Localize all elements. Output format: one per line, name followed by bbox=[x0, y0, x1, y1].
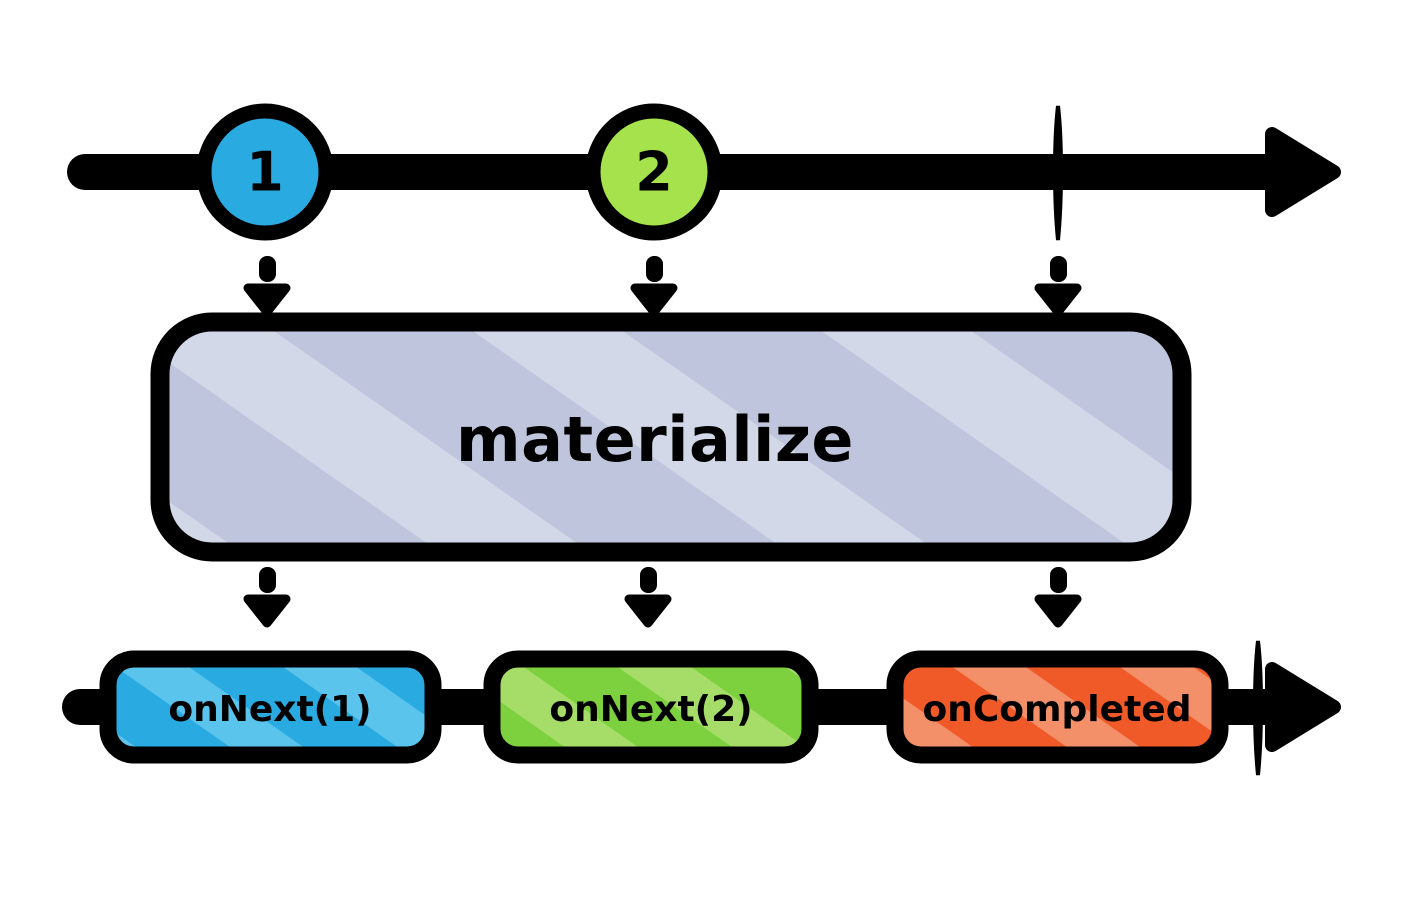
notification-oncompleted[interactable]: onCompleted bbox=[895, 659, 1220, 755]
output-complete-bar bbox=[1255, 641, 1261, 775]
source-observable-timeline: 1 2 bbox=[85, 106, 1334, 240]
notification-onnext-2-label: onNext(2) bbox=[549, 689, 752, 730]
notification-onnext-2[interactable]: onNext(2) bbox=[492, 659, 810, 755]
connector-down-icon-1 bbox=[248, 256, 286, 312]
notification-onnext-1-label: onNext(1) bbox=[168, 689, 371, 730]
notification-onnext-1[interactable]: onNext(1) bbox=[108, 659, 433, 755]
materialize-operator-label: materialize bbox=[456, 403, 854, 476]
notification-oncompleted-label: onCompleted bbox=[923, 689, 1192, 730]
output-timeline-arrowhead bbox=[1272, 669, 1334, 745]
output-observable-timeline: onNext(1) onNext(2) onCompleted bbox=[80, 641, 1334, 775]
connector-down-icon-4 bbox=[248, 567, 286, 623]
connector-down-icon-5 bbox=[629, 567, 667, 623]
connector-down-icon-6 bbox=[1039, 567, 1077, 623]
source-marble-1-label: 1 bbox=[246, 141, 284, 204]
connector-down-icon-2 bbox=[635, 256, 673, 312]
connector-down-icon-3 bbox=[1039, 256, 1077, 312]
operator-to-output-arrows bbox=[248, 567, 1077, 623]
source-marble-1[interactable]: 1 bbox=[204, 111, 326, 233]
source-marble-2[interactable]: 2 bbox=[593, 111, 715, 233]
marble-diagram-canvas: 1 2 bbox=[0, 0, 1401, 901]
source-timeline-arrowhead bbox=[1272, 134, 1334, 210]
materialize-operator[interactable]: materialize bbox=[160, 322, 1182, 552]
source-complete-bar bbox=[1055, 106, 1061, 240]
source-to-operator-arrows bbox=[248, 256, 1077, 312]
source-marble-2-label: 2 bbox=[635, 141, 673, 204]
marble-diagram-svg: 1 2 bbox=[0, 0, 1401, 901]
